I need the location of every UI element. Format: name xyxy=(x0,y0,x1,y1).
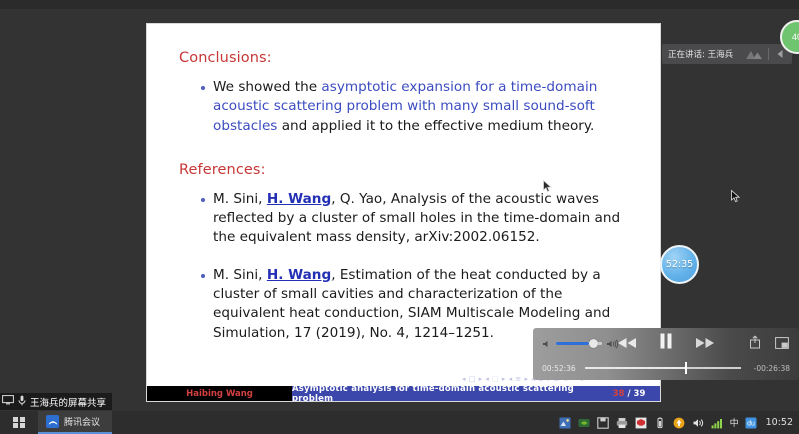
reference-pre: M. Sini, xyxy=(213,267,267,283)
slide-footer-bar: Haibing Wang Asymptotic analysis for tim… xyxy=(147,386,660,401)
ime-tray-label[interactable]: 中 xyxy=(730,416,739,429)
references-list: M. Sini, H. Wang, Q. Yao, Analysis of th… xyxy=(179,190,634,343)
nvidia-tray-icon[interactable] xyxy=(578,416,591,429)
conclusions-heading: Conclusions: xyxy=(179,50,634,66)
player-scrub-row: 00:52:36 -00:26:38 xyxy=(533,358,799,378)
volume-control[interactable] xyxy=(542,334,619,353)
page-current: 38 xyxy=(613,389,625,399)
progress-slider-fill xyxy=(585,367,685,369)
microphone-icon xyxy=(18,395,26,409)
update-tray-icon[interactable] xyxy=(673,416,686,429)
page-total: 39 xyxy=(634,389,646,399)
pause-icon[interactable] xyxy=(659,333,673,353)
screen-share-banner[interactable]: 王海兵的屏幕共享 xyxy=(0,393,112,410)
page-separator: / xyxy=(627,389,630,399)
progress-slider-knob[interactable] xyxy=(685,362,687,374)
slide-footer-author: Haibing Wang xyxy=(147,386,292,401)
screen-root: Conclusions: We showed the asymptotic ex… xyxy=(0,0,799,434)
video-player-controls[interactable]: 00:52:36 -00:26:38 xyxy=(533,328,799,380)
meeting-timer-label: 52:35 xyxy=(666,259,693,270)
tencent-meeting-icon xyxy=(46,415,59,428)
slide-footer-title: Asymptotic analysis for time-domain acou… xyxy=(292,386,598,401)
conclusions-list: We showed the asymptotic expansion for a… xyxy=(179,78,634,136)
active-speaker-pill[interactable]: 正在讲话: 王海兵 xyxy=(662,44,792,64)
taskbar-item-tencent-meeting[interactable]: 腾讯会议 xyxy=(38,411,112,434)
conclusion-bullet: We showed the asymptotic expansion for a… xyxy=(201,78,634,136)
volume-slider-knob[interactable] xyxy=(589,339,598,348)
cursor-pointer-desktop xyxy=(731,190,740,203)
references-heading: References: xyxy=(179,162,634,178)
player-button-row xyxy=(533,328,799,358)
windows-logo-icon xyxy=(13,417,25,429)
collapse-arrow-icon[interactable] xyxy=(774,48,786,60)
save-tray-icon[interactable] xyxy=(597,416,610,429)
volume-tray-icon[interactable] xyxy=(692,416,705,429)
current-time-label: 00:52:36 xyxy=(542,364,578,373)
monitor-icon xyxy=(2,395,14,408)
remaining-time-label: -00:26:38 xyxy=(748,364,790,373)
reference-author-link[interactable]: H. Wang xyxy=(267,191,331,207)
fast-forward-icon[interactable] xyxy=(695,334,715,353)
volume-slider-fill xyxy=(556,342,589,345)
cursor-pointer-slide xyxy=(543,180,552,193)
screen-share-top-strip xyxy=(0,0,799,9)
rewind-icon[interactable] xyxy=(617,334,637,353)
start-button[interactable] xyxy=(0,411,38,434)
avatar-badge-label: 40 xyxy=(792,32,799,42)
security-tray-icon[interactable] xyxy=(635,416,648,429)
volume-low-icon[interactable] xyxy=(542,334,552,353)
battery-tray-icon[interactable] xyxy=(654,416,667,429)
conclusion-text-part2: and applied it to the effective medium t… xyxy=(277,118,594,134)
photo-app-tray-icon[interactable] xyxy=(559,416,572,429)
share-icon[interactable] xyxy=(749,334,761,353)
svg-text:du: du xyxy=(747,420,755,427)
screen-share-banner-label: 王海兵的屏幕共享 xyxy=(30,395,106,409)
windows-taskbar: 腾讯会议 xyxy=(0,411,799,434)
baidu-ime-tray-icon[interactable]: du xyxy=(745,416,758,429)
taskbar-item-label: 腾讯会议 xyxy=(64,415,100,428)
list-item: M. Sini, H. Wang, Q. Yao, Analysis of th… xyxy=(201,190,634,248)
progress-slider[interactable] xyxy=(585,367,741,369)
picture-in-picture-icon[interactable] xyxy=(775,334,789,353)
participants-thumbnail-icon[interactable] xyxy=(745,48,763,60)
reference-author-link[interactable]: H. Wang xyxy=(267,267,331,283)
slide-footer-page: 38 / 39 xyxy=(598,386,660,401)
system-tray: 中 du 10:52 xyxy=(559,416,799,429)
pill-divider xyxy=(768,48,769,60)
reference-pre: M. Sini, xyxy=(213,191,267,207)
volume-slider[interactable] xyxy=(556,342,602,345)
slide-content: Conclusions: We showed the asymptotic ex… xyxy=(147,24,660,379)
printer-tray-icon[interactable] xyxy=(616,416,629,429)
network-tray-icon[interactable] xyxy=(711,416,724,429)
taskbar-clock[interactable]: 10:52 xyxy=(766,417,793,428)
player-right-icons xyxy=(749,334,789,353)
conclusion-text-part1: We showed the xyxy=(213,79,321,95)
meeting-timer-bubble[interactable]: 52:35 xyxy=(660,245,699,284)
active-speaker-label: 正在讲话: 王海兵 xyxy=(668,48,733,60)
